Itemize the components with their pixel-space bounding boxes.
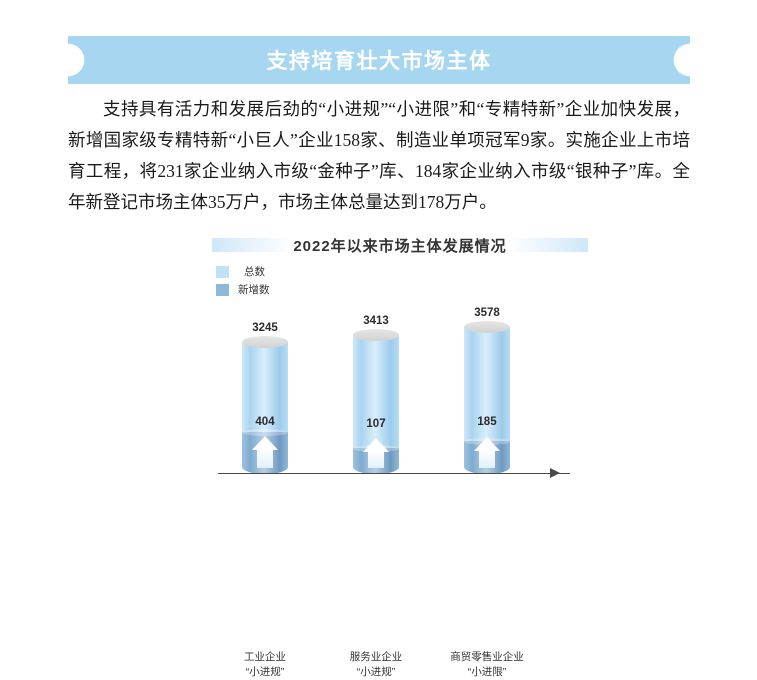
x-axis-arrow-icon xyxy=(550,468,560,478)
bar-arrow-stem-2-icon xyxy=(368,450,384,468)
bar-total-value-3: 3578 xyxy=(474,307,500,319)
bar-arrow-stem-3-icon xyxy=(479,449,495,468)
category-label-2-line1: 服务业企业 xyxy=(316,650,436,665)
bar-new-segment-2 xyxy=(353,448,399,474)
legend-label-total: 总数 xyxy=(244,264,265,279)
page-banner: 支持培育壮大市场主体 xyxy=(68,36,690,84)
legend-item-new: 新增数 xyxy=(216,282,270,297)
bar-new-value-2: 107 xyxy=(366,418,385,430)
category-label-3-line1: 商贸零售业企业 xyxy=(427,650,547,665)
category-label-1-line2: “小进规” xyxy=(205,665,325,680)
bar-total-cylinder-2 xyxy=(353,335,399,474)
body-paragraph: 支持具有活力和发展后劲的“小进规”“小进限”和“专精特新”企业加快发展，新增国家… xyxy=(68,94,690,218)
category-label-2-line2: “小进规” xyxy=(316,665,436,680)
category-label-3-line2: “小进限” xyxy=(427,665,547,680)
title-decoration-left xyxy=(212,238,292,252)
chart-x-axis xyxy=(218,473,570,474)
bar-cap-ellipse-3 xyxy=(464,321,510,333)
chart-plot-area: 3245 404 工业企业 “小进规” 3413 xyxy=(200,302,600,474)
category-label-1: 工业企业 “小进规” xyxy=(205,650,325,680)
bar-segment-divider-1 xyxy=(242,429,288,436)
page-title: 支持培育壮大市场主体 xyxy=(68,36,690,84)
bar-cap-ellipse-1 xyxy=(242,336,288,348)
bar-new-value-1: 404 xyxy=(255,416,274,428)
bar-new-segment-1 xyxy=(242,432,288,474)
bar-new-value-3: 185 xyxy=(477,416,496,428)
bar-total-value-1: 3245 xyxy=(252,322,278,334)
bar-new-segment-3 xyxy=(464,441,510,474)
market-entity-chart: 2022年以来市场主体发展情况 总数 新增数 3245 404 xyxy=(200,232,600,517)
legend-item-total: 总数 xyxy=(216,264,270,279)
category-label-1-line1: 工业企业 xyxy=(205,650,325,665)
title-decoration-right xyxy=(508,238,588,252)
chart-title-row: 2022年以来市场主体发展情况 xyxy=(200,232,600,258)
chart-title: 2022年以来市场主体发展情况 xyxy=(293,235,506,256)
category-label-2: 服务业企业 “小进规” xyxy=(316,650,436,680)
bar-cap-ellipse-2 xyxy=(353,329,399,341)
bar-total-cylinder-3 xyxy=(464,327,510,474)
bar-arrow-stem-1-icon xyxy=(257,448,273,468)
legend-swatch-total-icon xyxy=(216,266,229,278)
chart-legend: 总数 新增数 xyxy=(216,264,270,300)
legend-label-new: 新增数 xyxy=(238,282,270,297)
bar-total-value-2: 3413 xyxy=(363,315,389,327)
category-label-3: 商贸零售业企业 “小进限” xyxy=(427,650,547,680)
bar-total-cylinder-1 xyxy=(242,342,288,474)
legend-swatch-new-icon xyxy=(216,284,229,296)
